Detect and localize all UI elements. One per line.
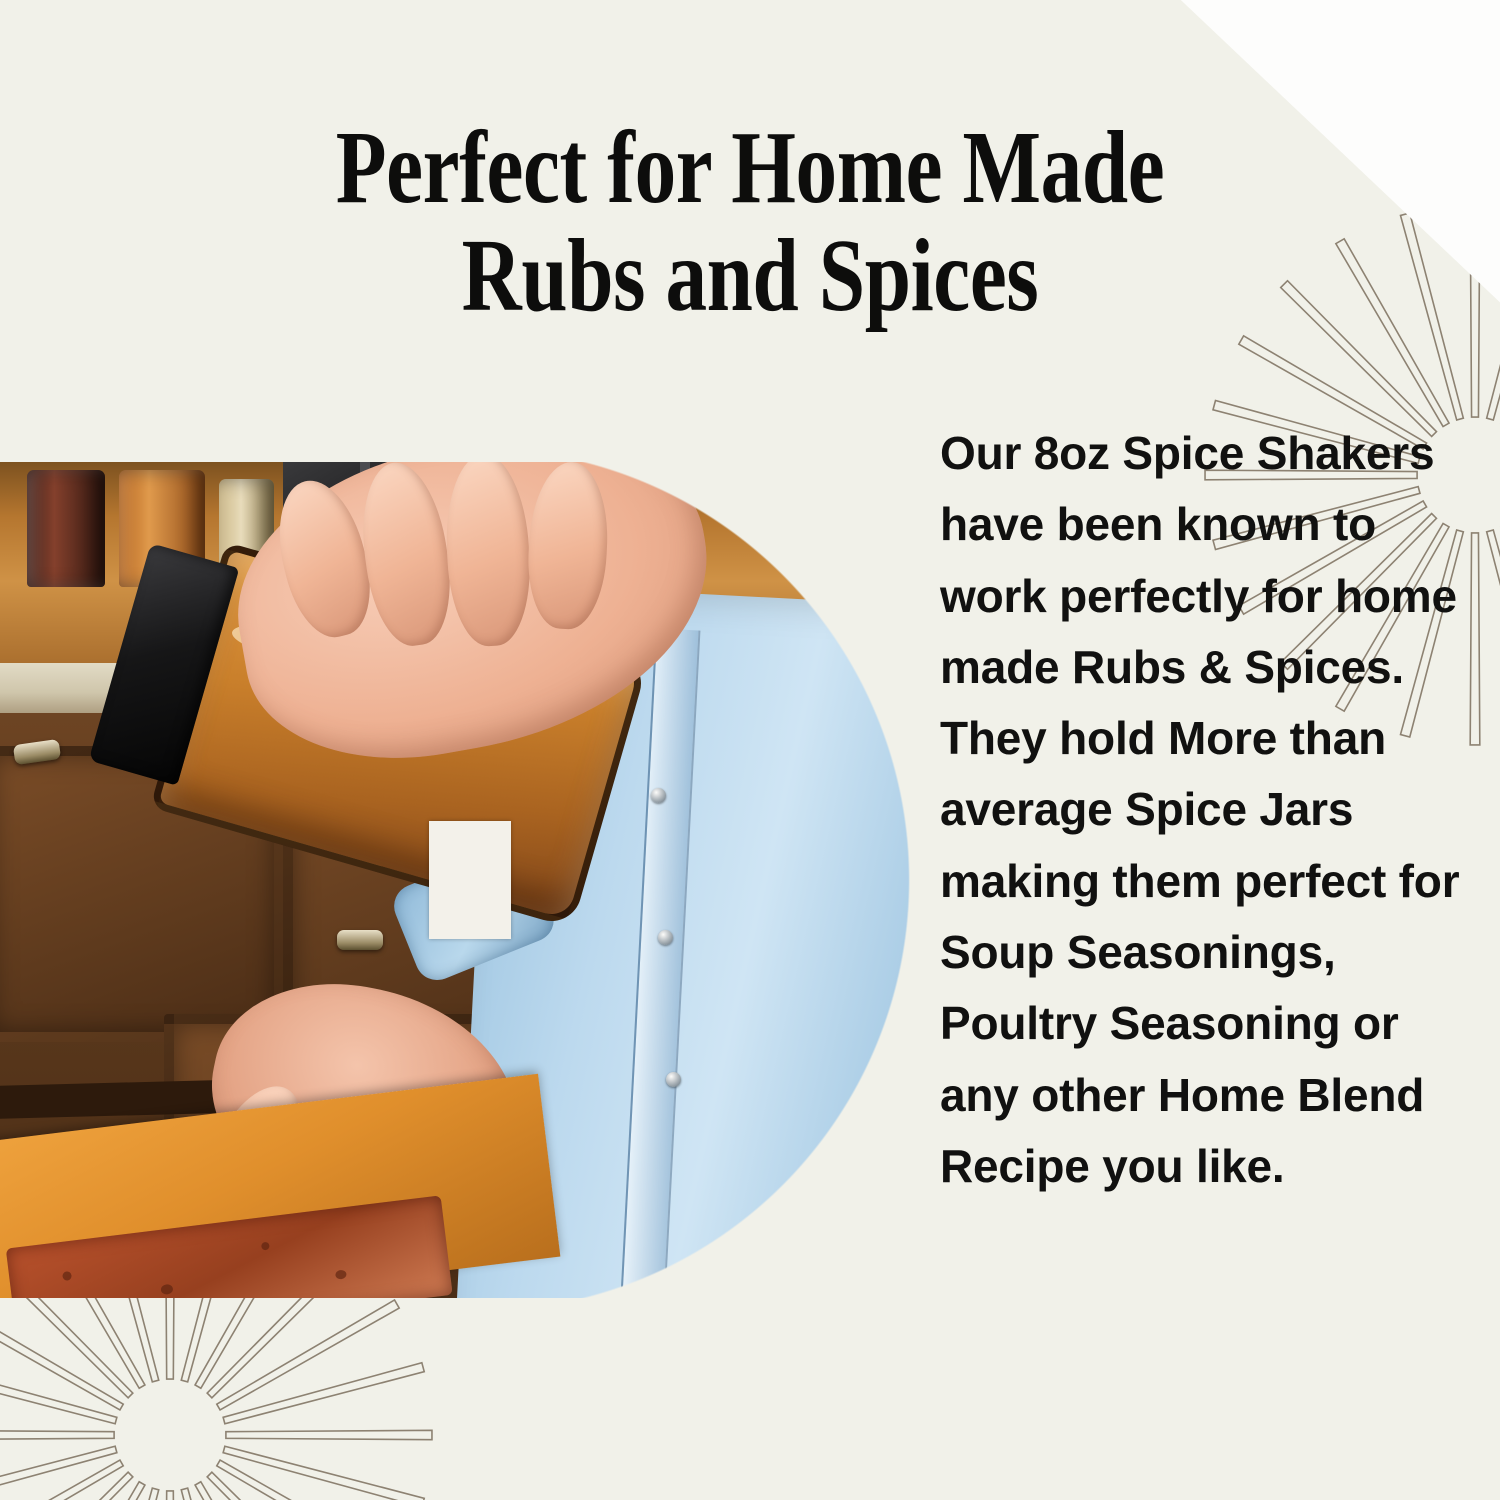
page-title: Perfect for Home Made Rubs and Spices	[246, 114, 1254, 330]
starburst-ray	[0, 1430, 114, 1439]
starburst-ray	[0, 1300, 123, 1410]
starburst-ray	[1400, 213, 1463, 420]
starburst-ray	[181, 1488, 242, 1500]
starburst-ray	[195, 1482, 305, 1500]
product-photo	[0, 462, 912, 1298]
product-feature-poster: Perfect for Home Made Rubs and Spices Ou…	[0, 0, 1500, 1500]
starburst-ray	[98, 1488, 159, 1500]
starburst-ray	[1487, 530, 1500, 737]
starburst-ray	[0, 1363, 117, 1424]
starburst-ray	[223, 1446, 424, 1500]
starburst-ray	[217, 1300, 399, 1410]
photo-scene	[0, 462, 912, 1298]
spice-jar-on-counter-1	[27, 470, 105, 587]
product-description: Our 8oz Spice Shakers have been known to…	[940, 418, 1460, 1202]
starburst-ray	[217, 1460, 399, 1500]
starburst-ray	[165, 1491, 174, 1500]
shirt-button-3	[666, 1072, 681, 1087]
starburst-ray	[226, 1430, 432, 1439]
starburst-ray	[0, 1472, 133, 1500]
starburst-ray	[1281, 281, 1437, 437]
starburst-ray	[0, 1460, 123, 1500]
starburst-ray	[1470, 533, 1480, 745]
starburst-ray	[0, 1446, 117, 1500]
starburst-ray	[1487, 213, 1500, 420]
cabinet-handle-lower	[337, 930, 383, 950]
starburst-ray	[223, 1363, 424, 1424]
shaker-product-label	[429, 821, 511, 938]
starburst-ray	[1470, 205, 1480, 417]
starburst-ray	[35, 1482, 145, 1500]
starburst-ray	[207, 1472, 358, 1500]
starburst-ray	[1336, 239, 1449, 427]
